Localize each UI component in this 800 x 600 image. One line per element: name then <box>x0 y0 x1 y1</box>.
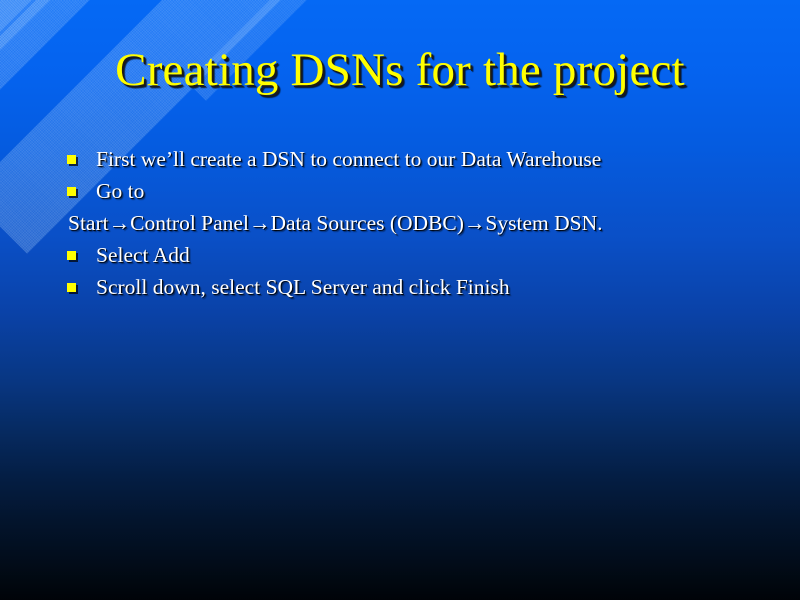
bullet-square-icon <box>60 274 96 300</box>
list-item-label: Select Add <box>96 242 190 268</box>
slide-body-list: First we’ll create a DSN to connect to o… <box>60 146 760 306</box>
bullet-square-icon <box>60 242 96 268</box>
list-item: Select Add <box>60 242 760 274</box>
list-item: Go to <box>60 178 760 210</box>
bullet-square-icon <box>60 178 96 204</box>
list-item: First we’ll create a DSN to connect to o… <box>60 146 760 178</box>
bullet-square-icon <box>60 146 96 172</box>
list-item-label: Scroll down, select SQL Server and click… <box>96 274 510 300</box>
presentation-slide: Creating DSNs for the project First we’l… <box>0 0 800 600</box>
slide-title: Creating DSNs for the project <box>0 42 800 98</box>
navigation-path-label: Start→Control Panel→Data Sources (ODBC)→… <box>68 210 602 236</box>
list-item-label: First we’ll create a DSN to connect to o… <box>96 146 601 172</box>
list-item-continuation: Start→Control Panel→Data Sources (ODBC)→… <box>60 210 760 242</box>
list-item-label: Go to <box>96 178 144 204</box>
list-item: Scroll down, select SQL Server and click… <box>60 274 760 306</box>
